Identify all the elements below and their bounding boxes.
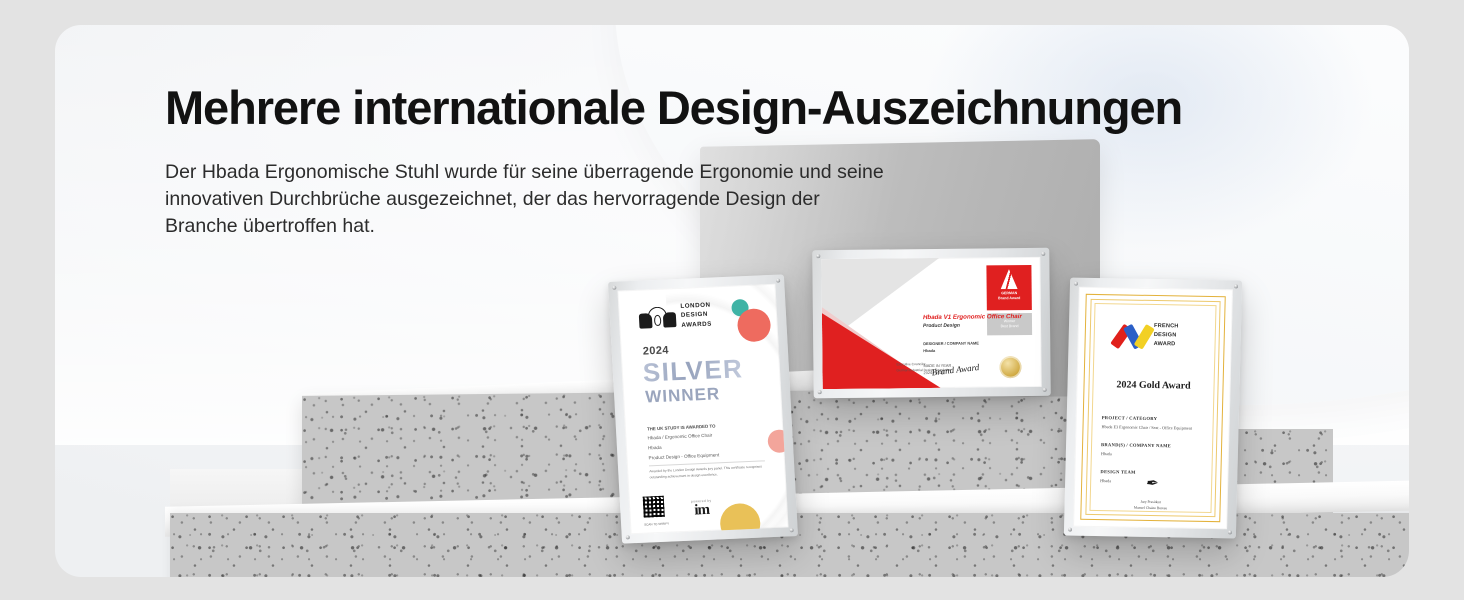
- field-label: PROJECT / CATEGORY: [1102, 415, 1222, 422]
- certificate-sheet-french: FRENCH DESIGN AWARD 2024 Gold Award PROJ…: [1073, 287, 1233, 530]
- subcopy-line-2: innovativen Durchbrüche ausgezeichnet, d…: [165, 186, 1065, 213]
- certificate-subtitle: Product Design: [923, 323, 960, 329]
- screw-icon: [818, 390, 822, 394]
- screw-icon: [1234, 284, 1238, 288]
- award-plaque-german-design-award: GERMAN Brand Award Winner Best Brand Hba…: [812, 248, 1051, 398]
- chevron-logo-icon: [1116, 323, 1149, 348]
- field-block-1: DESIGNER / COMPANY NAME Hbada: [923, 340, 979, 355]
- certificate-body-london: THE UK STUDY IS AWARDED TO Hbada / Ergon…: [647, 420, 767, 463]
- field-label: DESIGN TEAM: [1100, 469, 1220, 476]
- field-value: Hbada: [1101, 451, 1221, 458]
- powered-by-brand: im: [691, 502, 712, 517]
- certificate-title: Hbada V1 Ergonomic Office Chair: [923, 313, 1022, 321]
- org-name: GERMAN Brand Award: [998, 291, 1020, 301]
- screw-icon: [790, 528, 794, 532]
- award-plaque-london-design-awards: LONDON DESIGN AWARDS 2024 SILVER WINNER …: [608, 274, 798, 543]
- screw-icon: [1074, 282, 1078, 286]
- screw-icon: [626, 535, 630, 539]
- field-value: Hbada: [923, 347, 979, 355]
- bulldog-logo-icon: [638, 306, 676, 329]
- org-line-3: AWARDS: [681, 319, 712, 330]
- banner-subcopy: Der Hbada Ergonomische Stuhl wurde für s…: [165, 159, 1065, 240]
- chevron-a-icon: [1000, 269, 1017, 289]
- banner-text-block: Mehrere internationale Design-Auszeichnu…: [165, 83, 1385, 239]
- screw-icon: [1043, 388, 1047, 392]
- german-brand-award-logo: GERMAN Brand Award: [986, 265, 1031, 310]
- screw-icon: [612, 286, 616, 290]
- org-name: FRENCH DESIGN AWARD: [1154, 322, 1194, 349]
- screw-icon: [1068, 528, 1072, 532]
- certificate-sheet-london: LONDON DESIGN AWARDS 2024 SILVER WINNER …: [617, 284, 788, 535]
- subcopy-line-3: Branche übertroffen hat.: [165, 213, 1065, 240]
- qr-code-icon: [643, 496, 665, 518]
- field-label: DESIGNER / COMPANY NAME: [923, 340, 979, 348]
- awards-banner: Mehrere internationale Design-Auszeichnu…: [0, 0, 1464, 600]
- certificate-sheet-german: GERMAN Brand Award Winner Best Brand Hba…: [821, 257, 1041, 389]
- award-result: WINNER: [645, 384, 721, 407]
- banner-card: Mehrere internationale Design-Auszeichnu…: [55, 25, 1409, 577]
- london-awards-wordmark: LONDON DESIGN AWARDS: [680, 301, 712, 331]
- award-plaque-french-design-award: FRENCH DESIGN AWARD 2024 Gold Award PROJ…: [1064, 278, 1242, 539]
- london-design-awards-logo: LONDON DESIGN AWARDS: [638, 301, 712, 332]
- qr-caption: SCAN TO VERIFY: [644, 521, 669, 527]
- french-design-award-logo: FRENCH DESIGN AWARD: [1116, 321, 1194, 349]
- screw-icon: [816, 254, 820, 258]
- page-title: Mehrere internationale Design-Auszeichnu…: [165, 83, 1385, 134]
- certificate-fields-french: PROJECT / CATEGORY Hbada E3 Ergonomic Ch…: [1100, 415, 1222, 485]
- screw-icon: [1041, 252, 1045, 256]
- gold-seal-icon: [999, 356, 1021, 378]
- field-value: Hbada E3 Ergonomic Chair / Seat - Office…: [1101, 424, 1221, 431]
- signature-caption: Jury President Manuel Chaine Bureau: [1073, 497, 1227, 513]
- org-line-2: Brand Award: [998, 296, 1020, 301]
- screw-icon: [1228, 530, 1232, 534]
- subcopy-line-1: Der Hbada Ergonomische Stuhl wurde für s…: [165, 159, 1065, 186]
- screw-icon: [776, 279, 780, 283]
- org-line-2: DESIGN AWARD: [1154, 331, 1194, 350]
- field-label: BRAND(S) / COMPANY NAME: [1101, 442, 1221, 449]
- badge-line-2: Best Brand: [1001, 324, 1019, 330]
- powered-by-block: powered by im: [691, 498, 712, 517]
- award-tier: SILVER: [642, 353, 744, 388]
